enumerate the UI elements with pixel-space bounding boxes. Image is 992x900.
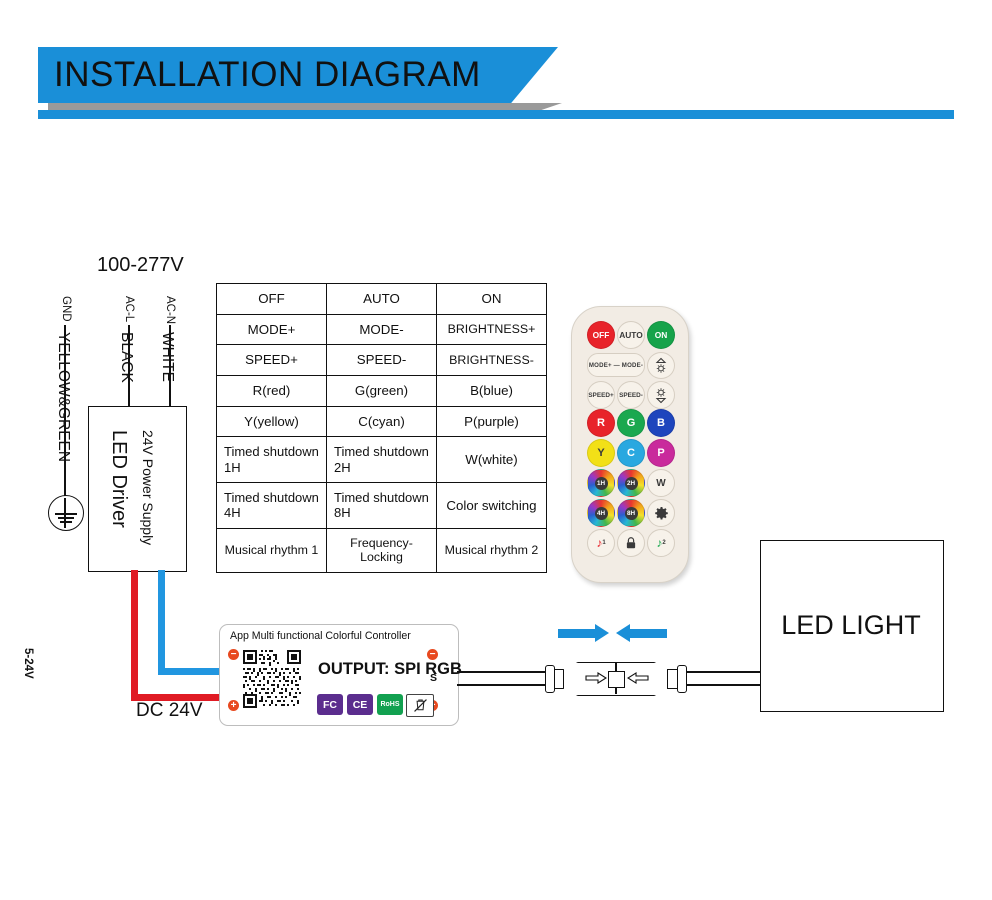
table-cell: BRIGHTNESS- — [437, 345, 547, 376]
remote-button-red[interactable]: R — [587, 409, 615, 437]
remote-button-on[interactable]: ON — [647, 321, 675, 349]
remote-button-brightness-down[interactable] — [647, 381, 675, 409]
remote-button-off[interactable]: OFF — [587, 321, 615, 349]
driver-label-line2: 24V Power Supply — [140, 430, 156, 545]
remote-button-blue[interactable]: B — [647, 409, 675, 437]
wire-color-label-live: BLACK — [117, 332, 135, 383]
earth-ground-icon — [48, 495, 84, 531]
dc-negative-wire-horizontal — [158, 668, 221, 675]
remote-button-speed-up[interactable]: SPEED+ — [587, 381, 615, 409]
table-row: Y(yellow) C(cyan) P(purple) — [217, 406, 547, 437]
remote-button-blue-label: B — [657, 417, 665, 429]
installation-diagram: INSTALLATION DIAGRAM 100-277V GND AC-L A… — [0, 0, 992, 900]
remote-button-auto-label: AUTO — [619, 330, 643, 340]
table-cell: Color switching — [437, 483, 547, 529]
remote-button-purple-label: P — [657, 447, 664, 459]
cert-fc-icon: FC — [317, 694, 343, 715]
table-cell: Musical rhythm 1 — [217, 528, 327, 572]
cert-weee-icon — [406, 694, 434, 717]
banner-rule — [38, 110, 954, 119]
remote-button-cyan-label: C — [627, 447, 635, 459]
table-cell: R(red) — [217, 376, 327, 407]
remote-control: OFF AUTO ON MODE+ — MODE- — [571, 306, 689, 583]
led-driver-box — [88, 406, 187, 572]
table-cell: SPEED- — [327, 345, 437, 376]
remote-function-table: OFF AUTO ON MODE+ MODE- BRIGHTNESS+ SPEE… — [216, 283, 547, 573]
connector-arrow-right-icon — [585, 672, 607, 684]
remote-button-timer-4h-label: 4H — [595, 507, 608, 520]
table-cell: Frequency-Locking — [327, 528, 437, 572]
dc-output-label: DC 24V — [136, 700, 203, 722]
direction-arrow-left — [629, 629, 667, 638]
dc-positive-wire — [131, 570, 138, 701]
table-cell: Timed shutdown 4H — [217, 483, 327, 529]
cert-rohs-icon: RoHS — [377, 694, 403, 715]
remote-button-yellow[interactable]: Y — [587, 439, 615, 467]
table-cell: Y(yellow) — [217, 406, 327, 437]
remote-button-purple[interactable]: P — [647, 439, 675, 467]
terminal-label-gnd: GND — [60, 296, 72, 322]
table-cell: OFF — [217, 284, 327, 315]
table-cell: G(green) — [327, 376, 437, 407]
controller-output-label: OUTPUT: SPI RGB — [318, 660, 462, 679]
remote-button-brightness-up[interactable] — [647, 352, 675, 379]
cert-ce-icon: CE — [347, 694, 373, 715]
table-cell: MODE- — [327, 314, 437, 345]
lock-icon — [625, 536, 637, 550]
table-cell: MODE+ — [217, 314, 327, 345]
remote-button-timer-4h[interactable]: 4H — [587, 499, 615, 527]
table-cell: BRIGHTNESS+ — [437, 314, 547, 345]
page-title: INSTALLATION DIAGRAM — [54, 47, 481, 103]
remote-button-lock[interactable] — [617, 529, 645, 557]
qr-code-icon — [243, 650, 301, 708]
table-cell: Timed shutdown 1H — [217, 437, 327, 483]
wire-live — [128, 325, 130, 408]
remote-button-timer-2h-label: 2H — [625, 477, 638, 490]
table-row: Musical rhythm 1 Frequency-Locking Music… — [217, 528, 547, 572]
remote-button-color-switching[interactable] — [647, 499, 675, 527]
remote-button-mode-label: MODE+ — MODE- — [589, 362, 643, 369]
terminal-label-acn: AC-N — [164, 296, 176, 324]
controller-terminal-input-positive: + — [228, 700, 239, 711]
remote-button-cyan[interactable]: C — [617, 439, 645, 467]
remote-button-timer-1h-label: 1H — [595, 477, 608, 490]
dc-negative-wire — [158, 570, 165, 675]
wire-color-label-neutral: WHITE — [158, 332, 176, 382]
remote-button-auto[interactable]: AUTO — [617, 321, 645, 349]
table-row: MODE+ MODE- BRIGHTNESS+ — [217, 314, 547, 345]
controller-voltage-range: 5-24V — [22, 648, 34, 679]
connector-arrow-left-icon — [627, 672, 649, 684]
controller-title: App Multi functional Colorful Controller — [230, 630, 411, 642]
table-row: Timed shutdown 1H Timed shutdown 2H W(wh… — [217, 437, 547, 483]
remote-button-music-1[interactable]: ♪ 1 — [587, 529, 615, 557]
brightness-up-icon — [653, 357, 669, 375]
brightness-down-icon — [653, 386, 669, 404]
table-cell: AUTO — [327, 284, 437, 315]
table-cell: P(purple) — [437, 406, 547, 437]
gear-icon — [654, 506, 669, 521]
table-cell: Timed shutdown 8H — [327, 483, 437, 529]
remote-button-mode[interactable]: MODE+ — MODE- — [587, 353, 645, 377]
table-cell: SPEED+ — [217, 345, 327, 376]
table-row: OFF AUTO ON — [217, 284, 547, 315]
table-cell: W(white) — [437, 437, 547, 483]
led-light-label: LED LIGHT — [760, 540, 942, 710]
remote-button-timer-1h[interactable]: 1H — [587, 469, 615, 497]
remote-button-yellow-label: Y — [597, 447, 604, 459]
remote-button-green[interactable]: G — [617, 409, 645, 437]
driver-label-line1: LED Driver — [107, 430, 130, 528]
remote-button-speed-up-label: SPEED+ — [588, 392, 613, 399]
direction-arrow-right — [558, 629, 596, 638]
remote-button-green-label: G — [627, 417, 636, 429]
remote-button-music-2[interactable]: ♪ 2 — [647, 529, 675, 557]
remote-button-speed-down-label: SPEED- — [619, 392, 643, 399]
remote-button-white[interactable]: W — [647, 469, 675, 497]
wire-color-label-ground: YELLOW&GREEN — [54, 332, 72, 462]
controller-terminal-input-negative: − — [228, 649, 239, 660]
remote-button-on-label: ON — [655, 330, 668, 340]
wire-neutral — [169, 325, 171, 408]
remote-button-timer-8h-label: 8H — [625, 507, 638, 520]
remote-button-timer-2h[interactable]: 2H — [617, 469, 645, 497]
remote-button-white-label: W — [656, 478, 665, 489]
table-cell: Musical rhythm 2 — [437, 528, 547, 572]
table-cell: B(blue) — [437, 376, 547, 407]
remote-button-red-label: R — [597, 417, 605, 429]
table-row: SPEED+ SPEED- BRIGHTNESS- — [217, 345, 547, 376]
header-banner: INSTALLATION DIAGRAM — [38, 47, 558, 103]
remote-button-timer-8h[interactable]: 8H — [617, 499, 645, 527]
table-cell: Timed shutdown 2H — [327, 437, 437, 483]
table-cell: C(cyan) — [327, 406, 437, 437]
remote-button-speed-down[interactable]: SPEED- — [617, 381, 645, 409]
controller-signal-terminal-label: S — [430, 672, 437, 684]
cable-connector — [545, 654, 685, 702]
wire-ground — [64, 325, 66, 503]
table-row: Timed shutdown 4H Timed shutdown 8H Colo… — [217, 483, 547, 529]
table-cell: ON — [437, 284, 547, 315]
controller-terminal-output-negative: − — [427, 649, 438, 660]
table-row: R(red) G(green) B(blue) — [217, 376, 547, 407]
terminal-label-acl: AC-L — [123, 296, 135, 322]
remote-button-off-label: OFF — [593, 330, 610, 340]
banner-shadow — [48, 103, 562, 110]
mains-voltage-label: 100-277V — [97, 254, 184, 277]
